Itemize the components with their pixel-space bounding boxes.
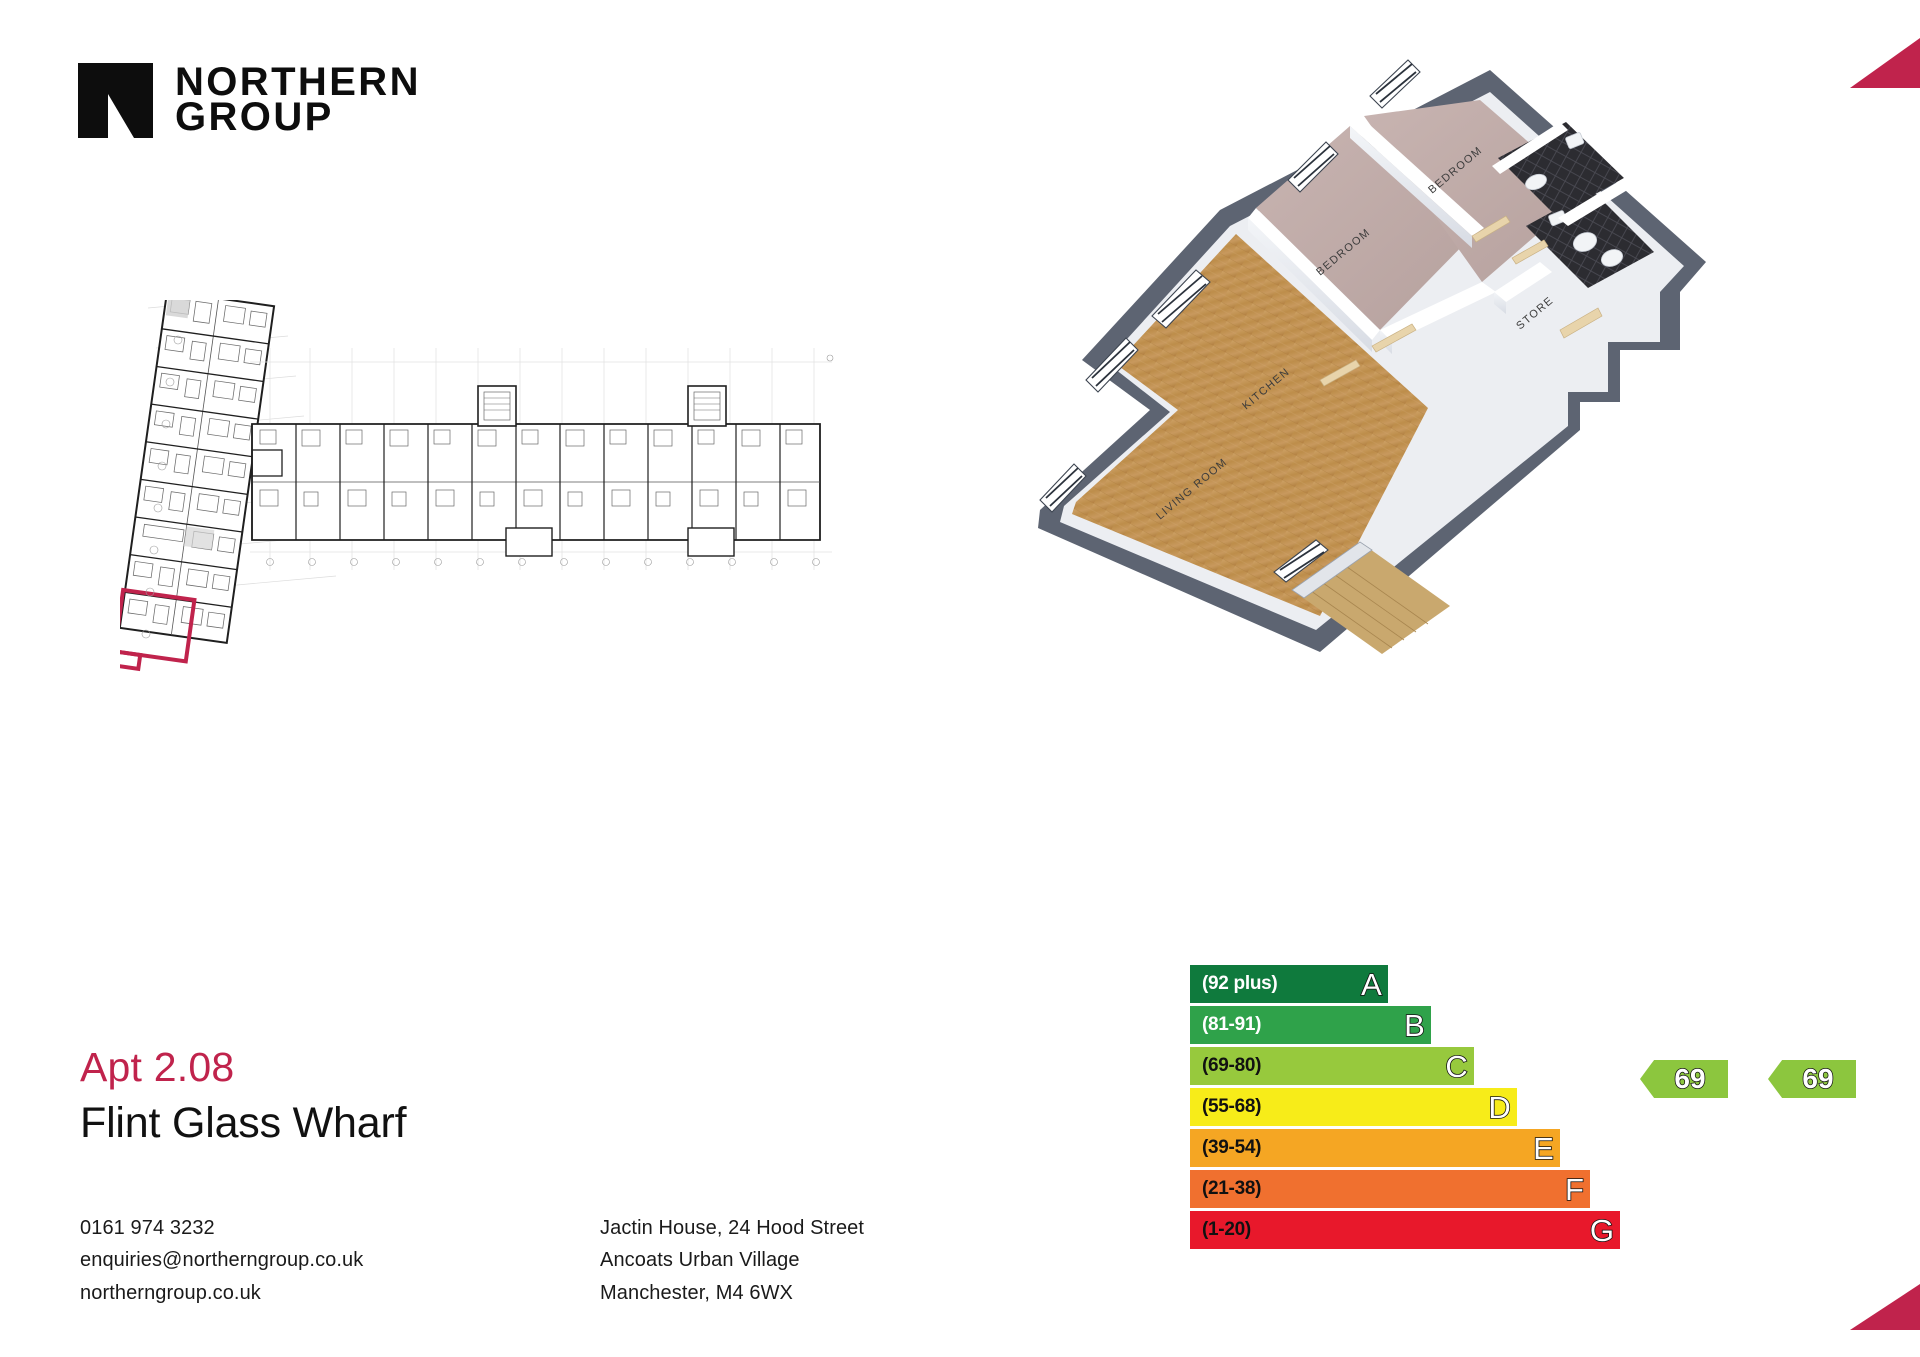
isometric-3d-floorplan: BEDROOM BEDROOM KITCHEN LIVING ROOM STOR…	[1020, 30, 1890, 710]
contact-email[interactable]: enquiries@northerngroup.co.uk	[80, 1244, 600, 1276]
epc-band-letter-e: E	[1533, 1133, 1554, 1164]
epc-band-letter-c: C	[1445, 1051, 1467, 1082]
contact-column-address: Jactin House, 24 Hood Street Ancoats Urb…	[600, 1212, 1020, 1309]
building-name: Flint Glass Wharf	[80, 1097, 406, 1149]
floorplan-brochure-page: NORTHERN GROUP	[0, 0, 1920, 1357]
epc-band-range-c: (69-80)	[1202, 1055, 1261, 1077]
epc-potential-rating-arrow: 69	[1768, 1060, 1856, 1098]
contact-column-primary: 0161 974 3232 enquiries@northerngroup.co…	[80, 1212, 600, 1309]
epc-band-range-d: (55-68)	[1202, 1096, 1261, 1118]
epc-band-range-a: (92 plus)	[1202, 973, 1277, 995]
epc-band-e: (39-54)E	[1190, 1129, 1560, 1167]
address-line-3: Manchester, M4 6WX	[600, 1277, 1020, 1309]
key-plan-angled-block	[120, 300, 274, 681]
epc-energy-rating-chart: (92 plus)A(81-91)B(69-80)C(55-68)D(39-54…	[1190, 965, 1620, 1252]
epc-band-a: (92 plus)A	[1190, 965, 1388, 1003]
contact-details: 0161 974 3232 enquiries@northerngroup.co…	[80, 1212, 1020, 1309]
epc-band-range-e: (39-54)	[1202, 1137, 1261, 1159]
epc-potential-rating-value: 69	[1790, 1063, 1833, 1095]
epc-band-letter-d: D	[1488, 1092, 1510, 1123]
contact-website[interactable]: northerngroup.co.uk	[80, 1277, 600, 1309]
epc-band-letter-f: F	[1565, 1174, 1584, 1205]
epc-current-rating-value: 69	[1662, 1063, 1705, 1095]
epc-band-range-b: (81-91)	[1202, 1014, 1261, 1036]
apartment-number: Apt 2.08	[80, 1045, 406, 1091]
northern-group-logo: NORTHERN GROUP	[78, 63, 421, 138]
epc-band-letter-g: G	[1590, 1215, 1614, 1246]
epc-band-b: (81-91)B	[1190, 1006, 1431, 1044]
contact-phone[interactable]: 0161 974 3232	[80, 1212, 600, 1244]
epc-band-f: (21-38)F	[1190, 1170, 1590, 1208]
logo-line-group: GROUP	[175, 100, 421, 135]
address-line-2: Ancoats Urban Village	[600, 1244, 1020, 1276]
epc-band-g: (1-20)G	[1190, 1211, 1620, 1249]
epc-band-d: (55-68)D	[1190, 1088, 1517, 1126]
epc-band-c: (69-80)C	[1190, 1047, 1474, 1085]
epc-current-rating-arrow: 69	[1640, 1060, 1728, 1098]
epc-band-range-g: (1-20)	[1202, 1219, 1251, 1241]
corner-accent-bottom-right-triangle	[1850, 1284, 1920, 1330]
epc-band-letter-a: A	[1361, 969, 1382, 1000]
key-plan-linear-block	[250, 348, 833, 570]
logo-wordmark: NORTHERN GROUP	[175, 63, 421, 135]
epc-band-letter-b: B	[1404, 1010, 1425, 1041]
property-title-block: Apt 2.08 Flint Glass Wharf	[80, 1045, 406, 1149]
northern-group-n-mark-icon	[78, 63, 153, 138]
grid-tick-markers-linear	[267, 559, 820, 566]
address-line-1: Jactin House, 24 Hood Street	[600, 1212, 1020, 1244]
epc-band-range-f: (21-38)	[1202, 1178, 1261, 1200]
key-site-plans	[120, 300, 920, 720]
